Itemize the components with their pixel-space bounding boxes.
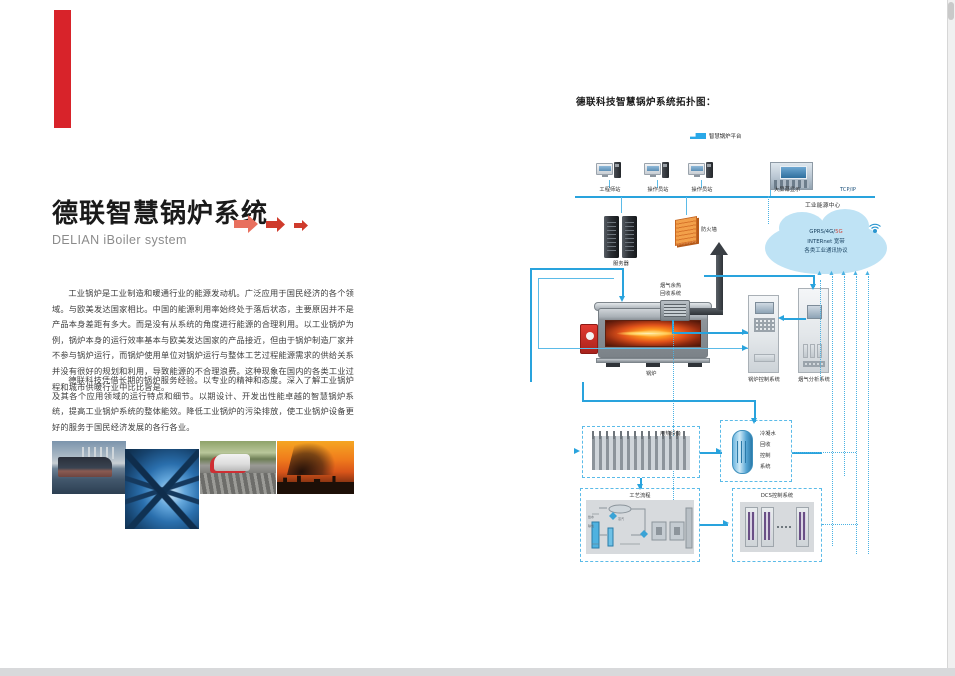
to-heat-equipment-arrow	[574, 448, 580, 454]
protocol-label: TCP/IP	[840, 187, 856, 193]
document-page: 德联智慧锅炉系统 DELIAN iBoiler system 工业锅炉是工业制造…	[0, 0, 947, 668]
condensate-tank-icon	[732, 430, 753, 474]
dcs-cabinets-icon	[740, 502, 814, 552]
heat-equipment-icon	[592, 436, 690, 470]
analysis-to-control-line	[782, 318, 806, 320]
condensate-label-3: 控制	[760, 452, 771, 459]
flue-exit-arrow-icon	[710, 242, 728, 255]
platform-label: 智慧锅炉平台	[709, 132, 741, 140]
glass-building-photo	[125, 449, 199, 529]
server-icon	[604, 216, 638, 258]
svg-text:给水: 给水	[588, 514, 594, 519]
intro-paragraph-2: 德联科技凭借长期的锅炉服务经验。以专业的精神和态度。深入了解工业锅炉及其各个应用…	[52, 373, 354, 435]
cloud-text-block: GPRS/4G/5G INTERnet 宽带 各类工业通讯协议	[767, 228, 885, 257]
condensate-label-2: 回收	[760, 441, 771, 448]
platform-mark-icon	[690, 133, 706, 139]
process-flow-schematic: 给水除氧蒸汽	[586, 500, 694, 554]
workstation-operator1-icon	[644, 162, 670, 179]
svg-text:除氧: 除氧	[588, 523, 594, 528]
chevron-up-icon-4: ▲	[852, 270, 859, 277]
boiler-control-label: 锅炉控制系统	[736, 376, 792, 383]
condensate-top-run	[582, 400, 754, 402]
flue-analysis-label: 烟气分析系统	[786, 376, 842, 383]
brand-title-cn: 德联智慧锅炉系统	[52, 200, 372, 229]
condensate-label-1: 冷凝水	[760, 430, 776, 437]
left-return-top-line-2	[538, 278, 614, 279]
photo-strip	[52, 441, 362, 536]
workstation-operator2-icon	[688, 162, 714, 179]
lan-bus-line	[575, 196, 875, 198]
dotted-riser-2	[832, 276, 833, 546]
platform-tag: 智慧锅炉平台	[690, 132, 741, 140]
svg-text:蒸汽: 蒸汽	[618, 516, 624, 521]
condensate-left-riser	[582, 382, 584, 400]
arrow-decoration-icon	[232, 212, 312, 238]
process-to-dcs-arrow	[723, 520, 729, 526]
heatrec-to-cabinet-arrow	[742, 329, 748, 335]
burner-feedback-line	[538, 348, 748, 349]
left-return-vertical-2	[538, 278, 539, 348]
workstation-label-2: 操作员站	[640, 186, 676, 193]
workstation-label-3: 操作员站	[684, 186, 720, 193]
heat-recovery-unit-icon	[660, 300, 690, 321]
power-plant-stacks-photo	[277, 441, 354, 494]
heat-to-process-arrow	[637, 484, 643, 490]
cloud-uplink-dotted	[768, 196, 769, 224]
workstation-engineer-icon	[596, 162, 622, 179]
left-return-top-line	[530, 268, 622, 270]
left-return-vertical	[530, 268, 532, 382]
document-viewer: 德联智慧锅炉系统 DELIAN iBoiler system 工业锅炉是工业制造…	[0, 0, 955, 676]
heatrec-to-cabinet-line	[672, 332, 748, 334]
dotted-riser-4	[856, 276, 857, 554]
chevron-up-icon-2: ▲	[828, 270, 835, 277]
red-accent-bar	[54, 10, 71, 128]
viewer-bottom-strip	[0, 668, 955, 676]
topology-diagram: 德联科技智慧锅炉系统拓扑图： 智慧锅炉平台 工程师站 操作员站 操作员站	[520, 70, 920, 590]
analysis-feed-line	[778, 275, 814, 277]
boiler-label: 锅炉	[646, 370, 657, 377]
flue-analysis-cabinet-icon	[798, 288, 829, 373]
cloud-line-1: GPRS/4G/5G	[767, 228, 885, 238]
brand-title-en: DELIAN iBoiler system	[52, 233, 372, 247]
condensate-top-arrow	[751, 418, 757, 424]
server-uplink	[621, 197, 622, 213]
large-display-label: 大屏幕显示	[774, 186, 800, 193]
burner-icon	[580, 324, 598, 354]
stack-to-analysis-line	[704, 275, 780, 277]
chevron-up-icon-5: ▲	[864, 270, 871, 277]
heat-equipment-label: 用热设备	[660, 430, 681, 437]
chevron-up-icon-1: ▲	[816, 270, 823, 277]
high-speed-train-photo	[200, 441, 276, 494]
dotted-riser-1	[820, 280, 821, 380]
condensate-box	[720, 420, 792, 482]
dcs-label: DCS控制系统	[742, 492, 812, 499]
cloud-line-3: 各类工业通讯协议	[767, 247, 885, 257]
analysis-drop-arrow	[810, 284, 816, 290]
server-to-boiler-line	[622, 268, 624, 298]
diagram-title: 德联科技智慧锅炉系统拓扑图：	[576, 94, 716, 108]
vertical-scrollbar[interactable]	[947, 0, 955, 676]
process-flow-label: 工艺流程	[600, 492, 680, 499]
flue-stack	[716, 254, 723, 310]
firewall-label: 防火墙	[701, 226, 717, 233]
dotted-riser-5	[868, 276, 869, 554]
firewall-uplink	[686, 197, 687, 215]
condensate-dotted-uplink	[792, 452, 856, 453]
ship-port-photo	[52, 441, 126, 494]
brand-block: 德联智慧锅炉系统 DELIAN iBoiler system	[52, 200, 372, 247]
scrollbar-thumb[interactable]	[948, 2, 954, 20]
heat-recovery-label-line2: 回收系统	[660, 290, 681, 297]
server-label: 服务器	[603, 260, 639, 267]
dotted-riser-3	[844, 276, 845, 476]
analysis-to-control-arrow	[778, 315, 784, 321]
energy-center-label: 工业能源中心	[805, 200, 840, 209]
workstation-label-1: 工程师站	[592, 186, 628, 193]
dcs-dotted-uplink	[822, 524, 858, 525]
server-to-boiler-arrow	[619, 296, 625, 302]
firewall-icon	[675, 216, 697, 246]
burner-feedback-arrow	[742, 345, 748, 351]
chevron-up-icon-3: ▲	[840, 270, 847, 277]
boiler-control-cabinet-icon	[748, 295, 779, 373]
condensate-label-4: 系统	[760, 463, 771, 470]
cloud-line-2: INTERnet 宽带	[767, 238, 885, 248]
heat-recovery-label-line1: 烟气余热	[660, 282, 681, 289]
